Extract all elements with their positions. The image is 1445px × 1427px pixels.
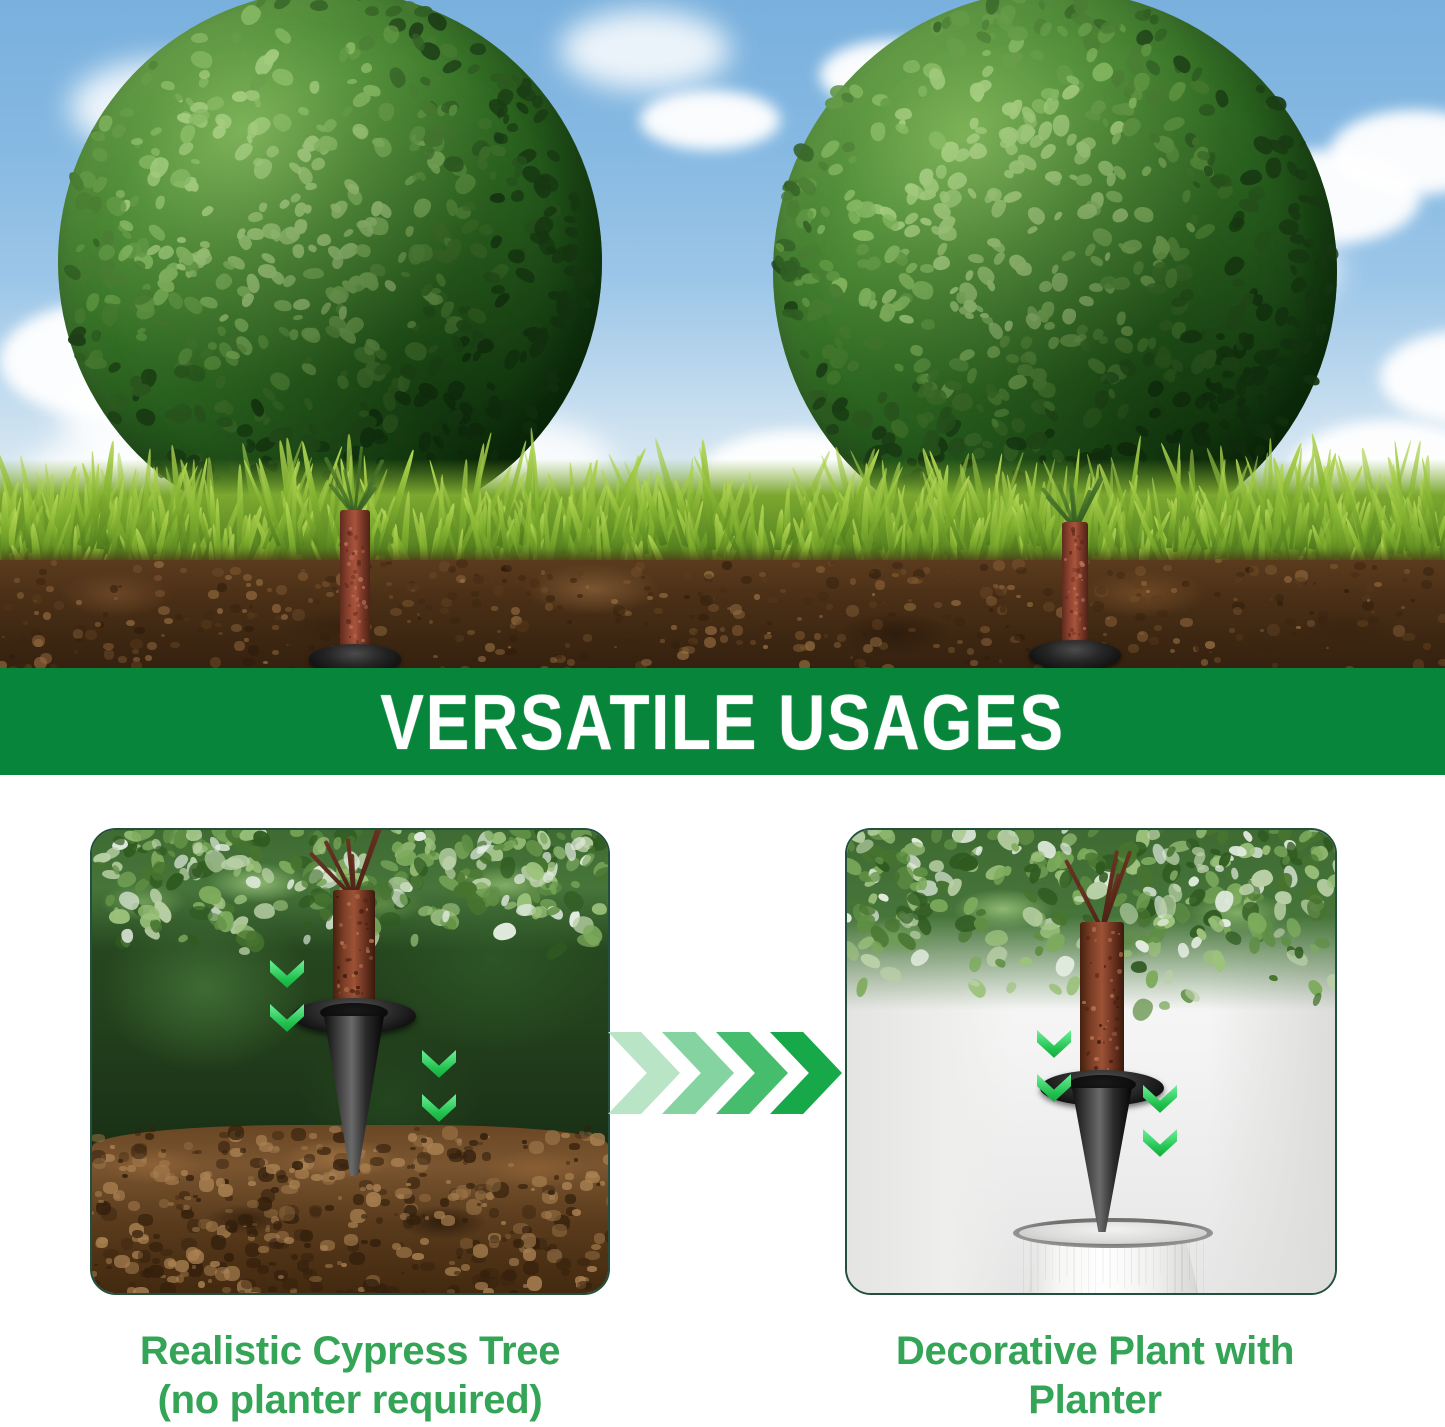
- dirt-speck: [303, 1268, 313, 1275]
- soil-speck: [893, 569, 903, 578]
- soil-speck: [577, 594, 583, 598]
- leaf: [233, 894, 248, 906]
- chevron-down-icon: [270, 960, 304, 994]
- dirt-speck: [119, 1166, 127, 1172]
- soil-speck: [1262, 642, 1274, 652]
- soil-speck: [1275, 594, 1284, 602]
- dirt-speck: [406, 1183, 411, 1186]
- dirt-speck: [335, 1290, 346, 1295]
- soil-speck: [298, 572, 308, 581]
- leaf: [561, 887, 587, 914]
- caption-left-line2: (no planter required): [50, 1376, 650, 1425]
- dirt-speck: [91, 1134, 105, 1142]
- dirt-speck: [419, 1173, 427, 1178]
- dirt-speck: [508, 1163, 514, 1168]
- dirt-speck: [176, 1204, 184, 1210]
- dirt-speck: [325, 1264, 332, 1268]
- dirt-speck: [482, 1152, 491, 1161]
- soil-speck: [46, 586, 53, 592]
- soil-speck: [276, 585, 287, 595]
- dirt-speck: [304, 1154, 315, 1163]
- soil-speck: [131, 661, 141, 668]
- soil-speck: [984, 656, 990, 660]
- bark-fleck: [362, 586, 365, 589]
- leaf: [1063, 974, 1082, 997]
- soil-speck: [246, 583, 251, 587]
- soil-speck: [722, 561, 732, 569]
- dirt-speck: [268, 1146, 280, 1153]
- dirt-speck: [434, 1211, 444, 1219]
- leaf: [1158, 320, 1172, 331]
- bark-fleck: [1072, 568, 1076, 572]
- dirt-speck: [466, 1183, 475, 1189]
- dirt-speck: [204, 1265, 217, 1276]
- soil-speck: [505, 648, 516, 655]
- dirt-speck: [587, 1266, 597, 1272]
- soil-speck: [509, 635, 516, 642]
- soil-speck: [1269, 598, 1273, 601]
- panel-realistic-cypress-tree[interactable]: [90, 828, 610, 1295]
- soil-speck: [767, 597, 777, 604]
- soil-speck: [570, 578, 577, 583]
- dirt-speck: [110, 1145, 115, 1149]
- leaf: [379, 910, 402, 928]
- dirt-speck: [584, 1126, 591, 1131]
- soil-speck: [203, 610, 216, 620]
- soil-speck: [704, 574, 713, 582]
- soil-speck: [736, 640, 743, 645]
- soil-speck: [471, 658, 476, 661]
- dirt-speck: [148, 1265, 164, 1279]
- dirt-speck: [509, 1258, 518, 1265]
- leaf: [570, 880, 581, 890]
- soil-speck: [615, 619, 621, 624]
- soil-speck: [1344, 589, 1349, 593]
- dirt-speck: [442, 1126, 458, 1140]
- soil-speck: [1374, 582, 1382, 587]
- soil-speck: [147, 642, 157, 651]
- soil-speck: [695, 631, 700, 635]
- leaf: [1285, 916, 1302, 938]
- soil-speck: [145, 635, 148, 638]
- dirt-speck: [95, 1191, 102, 1196]
- soil-speck: [440, 608, 449, 613]
- soil-speck: [1309, 611, 1314, 615]
- soil-speck: [541, 587, 548, 593]
- soil-speck: [850, 578, 856, 584]
- soil-speck: [471, 591, 480, 597]
- dirt-speck: [417, 1152, 431, 1166]
- soil-speck: [434, 651, 442, 657]
- leaf: [1144, 968, 1161, 989]
- dirt-speck: [605, 1229, 610, 1245]
- dirt-speck: [152, 1258, 160, 1264]
- dirt-speck: [228, 1227, 237, 1233]
- soil-speck: [1235, 577, 1243, 583]
- soil-speck: [230, 604, 241, 613]
- leaf: [877, 892, 890, 904]
- bark-fleck: [1065, 596, 1068, 599]
- bark-fleck: [354, 586, 357, 589]
- soil-speck: [1272, 663, 1278, 668]
- dirt-speck: [256, 1135, 267, 1146]
- soil-speck: [272, 604, 281, 613]
- soil-speck: [1125, 576, 1135, 583]
- leaf: [314, 139, 330, 152]
- soil-speck: [741, 576, 752, 585]
- soil-speck: [1236, 634, 1243, 641]
- dirt-speck: [412, 1264, 419, 1270]
- soil-speck: [1215, 559, 1222, 564]
- soil-speck: [872, 619, 883, 630]
- bark-fleck: [357, 560, 361, 564]
- dirt-speck: [446, 1180, 451, 1185]
- dirt-speck: [608, 1193, 610, 1198]
- soil-speck: [951, 600, 962, 607]
- soil-speck: [948, 647, 954, 653]
- dirt-speck: [132, 1230, 143, 1238]
- bark-fleck: [1071, 577, 1075, 581]
- soil-speck: [501, 568, 505, 571]
- soil-speck: [763, 645, 768, 650]
- soil-speck: [647, 596, 652, 601]
- dirt-speck: [394, 1213, 398, 1215]
- soil-speck: [1006, 625, 1009, 628]
- soil-speck: [502, 579, 507, 583]
- soil-speck: [429, 620, 434, 625]
- dirt-speck: [545, 1210, 561, 1221]
- leaf: [1004, 980, 1018, 995]
- dirt-speck: [608, 1272, 610, 1280]
- soil-speck: [1209, 651, 1212, 653]
- soil-speck: [586, 585, 590, 589]
- soil-speck: [704, 637, 717, 649]
- bark-fleck: [362, 600, 367, 605]
- leaf: [1305, 897, 1328, 923]
- soil-speck: [792, 562, 801, 568]
- soil-speck: [797, 617, 802, 621]
- dirt-speck: [99, 1238, 107, 1244]
- dirt-speck: [333, 1132, 348, 1143]
- soil-speck: [320, 633, 331, 642]
- soil-speck: [1141, 581, 1146, 586]
- soil-speck: [1249, 566, 1259, 576]
- soil-speck: [425, 605, 434, 610]
- dirt-speck: [258, 1246, 269, 1252]
- bark-fleck: [344, 583, 346, 585]
- soil-speck: [579, 652, 588, 660]
- leaf: [409, 933, 420, 948]
- soil-speck: [418, 617, 421, 620]
- soil-speck: [1438, 659, 1445, 666]
- soil-speck: [1357, 620, 1367, 627]
- soil-speck: [644, 586, 651, 591]
- soil-speck: [285, 607, 293, 612]
- dirt-speck: [289, 1168, 296, 1174]
- leaf: [303, 921, 313, 928]
- leaf: [1081, 912, 1096, 926]
- soil-speck: [473, 575, 484, 583]
- dirt-speck: [603, 1154, 610, 1165]
- soil-speck: [690, 615, 695, 619]
- chevron-down-icon: [1143, 1129, 1177, 1163]
- soil-speck: [1413, 659, 1424, 668]
- bark-fleck: [351, 575, 356, 580]
- dirt-speck: [457, 1256, 461, 1259]
- soil-speck: [1092, 601, 1105, 612]
- soil-speck: [670, 655, 677, 660]
- soil-speck: [908, 599, 912, 602]
- soil-speck: [315, 584, 321, 590]
- soil-speck: [826, 604, 832, 610]
- soil-speck: [1423, 643, 1431, 650]
- soil-speck: [1366, 585, 1374, 591]
- dirt-speck: [380, 1291, 393, 1295]
- dirt-speck: [257, 1197, 272, 1211]
- soil-speck: [720, 587, 727, 593]
- soil-speck: [1284, 576, 1293, 583]
- leaf: [1243, 830, 1255, 844]
- soil-speck: [215, 623, 222, 627]
- dirt-speck: [279, 1206, 295, 1221]
- soil-speck: [158, 606, 171, 616]
- dirt-speck: [138, 1250, 151, 1262]
- dirt-speck: [175, 1195, 180, 1200]
- leaf: [260, 866, 276, 885]
- caption-left-line1: Realistic Cypress Tree: [50, 1327, 650, 1376]
- soil-speck: [34, 611, 39, 614]
- bark-fleck: [348, 532, 353, 537]
- soil-speck: [17, 592, 25, 599]
- dirt-speck: [168, 1202, 174, 1207]
- dirt-speck: [127, 1165, 136, 1173]
- soil-speck: [1128, 644, 1139, 653]
- soil-speck: [36, 578, 45, 585]
- dirt-speck: [480, 1133, 488, 1140]
- chevron-down-icon: [1037, 1030, 1071, 1064]
- soil-speck: [231, 624, 242, 632]
- dirt-speck: [239, 1290, 245, 1295]
- soil-speck: [780, 589, 786, 593]
- soil-speck: [1291, 632, 1297, 636]
- dirt-speck: [575, 1131, 589, 1139]
- soil-speck: [1307, 620, 1315, 627]
- dirt-speck: [460, 1238, 474, 1248]
- soil-bed: [92, 1125, 608, 1293]
- soil-speck: [1229, 628, 1235, 633]
- leaf: [177, 934, 188, 944]
- soil-speck: [641, 576, 645, 579]
- dirt-speck: [168, 1260, 177, 1267]
- soil-speck: [804, 598, 813, 606]
- leaf: [462, 201, 476, 210]
- soil-speck: [249, 605, 253, 609]
- bark-fleck: [1079, 613, 1082, 616]
- soil-speck: [170, 642, 179, 649]
- soil-speck: [267, 588, 271, 592]
- dirt-speck: [309, 1133, 317, 1139]
- dirt-speck: [478, 1142, 483, 1145]
- leaf: [302, 933, 313, 945]
- chevron-down-icon: [270, 1004, 304, 1038]
- dirt-speck: [184, 1196, 190, 1200]
- bark-fleck: [365, 618, 367, 620]
- dirt-speck: [419, 1194, 431, 1202]
- dirt-speck: [248, 1176, 255, 1181]
- soil-speck: [1326, 647, 1329, 650]
- soil-speck: [286, 644, 289, 646]
- soil-speck: [698, 614, 708, 621]
- banner-title: VERSATILE USAGES: [380, 683, 1065, 761]
- dirt-speck: [447, 1289, 456, 1294]
- soil-speck: [51, 560, 57, 566]
- soil-speck: [720, 635, 728, 642]
- dirt-speck: [414, 1127, 420, 1131]
- leaf: [607, 928, 610, 938]
- panel-decorative-plant-with-planter[interactable]: [845, 828, 1337, 1295]
- dirt-speck: [411, 1164, 416, 1168]
- leaf: [1180, 330, 1202, 343]
- dirt-speck: [586, 1171, 597, 1177]
- caption-right-line1: Decorative Plant with: [800, 1327, 1390, 1376]
- leaf: [186, 934, 200, 949]
- leaf: [1079, 980, 1094, 993]
- dirt-speck: [462, 1218, 468, 1223]
- chevron-down-icon: [1143, 1085, 1177, 1119]
- chevron-down-icon: [422, 1094, 456, 1128]
- dirt-speck: [355, 1149, 365, 1159]
- dirt-speck: [216, 1159, 228, 1169]
- soil-speck: [526, 591, 531, 595]
- chevron-down-icon: [1037, 1074, 1071, 1108]
- dirt-speck: [140, 1271, 146, 1276]
- dirt-speck: [215, 1293, 220, 1295]
- soil-speck: [9, 654, 15, 659]
- dirt-speck: [349, 1252, 365, 1265]
- dirt-speck: [320, 1240, 335, 1251]
- dirt-speck: [461, 1264, 470, 1271]
- soil-speck: [869, 601, 877, 608]
- soil-speck: [1043, 602, 1055, 612]
- soil-speck: [1214, 657, 1221, 663]
- soil-speck: [567, 620, 572, 624]
- soil-speck: [1184, 581, 1196, 591]
- dirt-speck: [565, 1173, 574, 1179]
- soil-speck: [506, 563, 517, 570]
- dirt-speck: [276, 1231, 289, 1243]
- soil-speck: [497, 630, 501, 633]
- leaf: [303, 268, 324, 279]
- soil-speck: [145, 655, 152, 661]
- dirt-speck: [250, 1158, 265, 1168]
- leaf: [1209, 847, 1222, 857]
- soil-speck: [1404, 569, 1410, 574]
- soil-speck: [1371, 610, 1376, 614]
- dirt-speck: [518, 1184, 527, 1189]
- leaf: [1085, 828, 1102, 839]
- bark-fleck: [349, 555, 354, 560]
- dirt-speck: [574, 1158, 578, 1162]
- soil-speck: [799, 660, 810, 668]
- bark-fleck: [350, 581, 354, 585]
- soil-speck: [132, 649, 139, 655]
- bark-fleck: [358, 620, 361, 623]
- soil-speck: [993, 560, 1006, 570]
- dirt-speck: [349, 1125, 358, 1131]
- dirt-speck: [129, 1282, 136, 1287]
- leaf: [1158, 1000, 1171, 1011]
- dirt-speck: [101, 1207, 117, 1220]
- soil-speck: [448, 566, 457, 574]
- dirt-speck: [344, 1234, 359, 1246]
- soil-speck: [208, 590, 219, 599]
- soil-speck: [518, 575, 526, 581]
- dirt-speck: [338, 1196, 343, 1200]
- bark-fleck: [1080, 561, 1084, 565]
- soil-speck: [814, 633, 821, 640]
- dirt-speck: [463, 1160, 469, 1165]
- soil-speck: [104, 649, 114, 659]
- dirt-speck: [160, 1249, 173, 1256]
- bark-fleck: [1074, 544, 1076, 546]
- leaf: [490, 285, 504, 294]
- dirt-speck: [556, 1258, 571, 1270]
- soil-speck: [888, 612, 896, 618]
- dirt-speck: [523, 1145, 528, 1150]
- soil-speck: [180, 568, 187, 573]
- dirt-speck: [513, 1239, 523, 1248]
- soil-speck: [999, 659, 1003, 663]
- soil-speck: [904, 603, 916, 611]
- soil-speck: [541, 570, 546, 574]
- leaf: [853, 976, 869, 998]
- dirt-speck: [370, 1239, 381, 1247]
- soil-speck: [625, 611, 632, 616]
- dirt-speck: [138, 1214, 153, 1225]
- dirt-speck: [222, 1287, 231, 1293]
- soil-speck: [557, 605, 563, 610]
- soil-speck: [1402, 578, 1407, 582]
- leaf: [511, 190, 524, 202]
- dirt-speck: [576, 1284, 580, 1287]
- dirt-speck: [186, 1247, 199, 1260]
- soil-speck: [879, 642, 889, 650]
- soil-speck: [954, 617, 965, 626]
- soil-speck: [1154, 625, 1162, 631]
- bark-fleck: [355, 597, 359, 601]
- soil-speck: [733, 610, 745, 619]
- dirt-speck: [184, 1142, 194, 1151]
- leaf: [507, 122, 518, 131]
- soil-speck: [130, 639, 143, 649]
- dirt-speck: [473, 1244, 488, 1258]
- soil-speck: [212, 568, 225, 577]
- leaf: [1231, 867, 1239, 879]
- soil-speck: [1401, 606, 1405, 609]
- dirt-speck: [532, 1176, 547, 1186]
- dirt-speck: [353, 1194, 364, 1204]
- soil-speck: [164, 618, 173, 624]
- soil-speck: [1171, 588, 1177, 593]
- dirt-speck: [329, 1176, 335, 1180]
- bark-fleck: [361, 550, 365, 554]
- leaf: [290, 828, 304, 838]
- soil-speck: [623, 580, 630, 585]
- dirt-speck: [376, 1217, 383, 1224]
- soil-speck: [967, 648, 974, 655]
- soil-speck: [907, 577, 919, 584]
- soil-speck: [1368, 616, 1379, 624]
